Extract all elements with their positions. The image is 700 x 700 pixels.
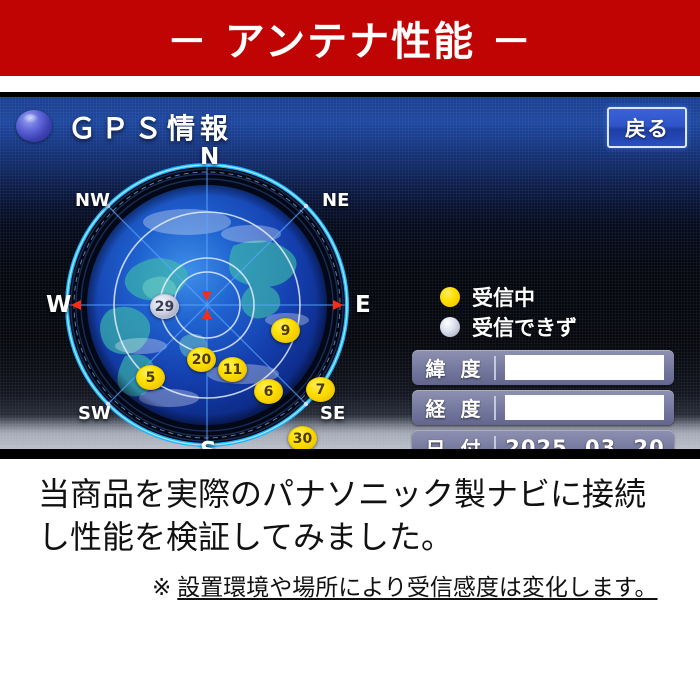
- gps-info-panel: 緯 度 経 度 日 付 2025. 03. 20 時 間 20:08: [412, 350, 674, 449]
- satellite-marker-11: 11: [218, 357, 247, 382]
- info-row-longitude: 経 度: [412, 390, 674, 425]
- satellite-marker-30: 30: [288, 426, 317, 449]
- compass-label-e: E: [355, 292, 371, 318]
- satellite-sky-plot: N NE E SE S SW W NW 2992011567301319: [37, 160, 377, 449]
- info-value-latitude-redacted: [505, 355, 664, 380]
- gps-orb-icon: [16, 110, 52, 142]
- info-label-longitude: 経 度: [412, 393, 494, 422]
- description-text: 当商品を実際のパナソニック製ナビに接続し性能を検証してみました。: [38, 473, 668, 559]
- info-value-date: 2025. 03. 20: [496, 436, 674, 450]
- compass-label-s: S: [200, 438, 217, 449]
- compass-label-w: W: [46, 292, 71, 318]
- back-button[interactable]: 戻る: [607, 107, 687, 148]
- info-value-longitude-redacted: [505, 395, 664, 420]
- signal-legend: 受信中 受信できず: [440, 283, 577, 343]
- navigation-screen-photo: ＧＰＳ情報 戻る: [0, 92, 700, 459]
- info-row-divider: [494, 356, 496, 380]
- satellite-marker-7: 7: [306, 377, 335, 402]
- satellite-marker-5: 5: [136, 365, 165, 390]
- satellite-marker-9: 9: [271, 318, 300, 343]
- satellite-marker-20: 20: [187, 347, 216, 372]
- screen-title-bar: ＧＰＳ情報 戻る: [0, 97, 700, 153]
- screen-title: ＧＰＳ情報: [68, 107, 233, 147]
- legend-label-receiving: 受信中: [472, 282, 535, 312]
- legend-item-receiving: 受信中: [440, 283, 577, 310]
- info-label-latitude: 緯 度: [412, 353, 494, 382]
- satellite-marker-6: 6: [254, 379, 283, 404]
- header-banner: － アンテナ性能 －: [0, 0, 700, 76]
- satellite-marker-29: 29: [150, 294, 179, 319]
- legend-dot-receiving-icon: [440, 287, 460, 307]
- back-button-label: 戻る: [625, 113, 669, 143]
- footnote: ※ 設置環境や場所により受信感度は変化します。: [152, 572, 692, 604]
- compass-label-ne: NE: [322, 190, 349, 211]
- info-row-date: 日 付 2025. 03. 20: [412, 430, 674, 449]
- compass-label-nw: NW: [75, 190, 110, 211]
- footnote-text: 設置環境や場所により受信感度は変化します。: [177, 572, 692, 604]
- info-row-divider: [494, 396, 496, 420]
- info-row-latitude: 緯 度: [412, 350, 674, 385]
- footnote-mark: ※: [152, 572, 171, 604]
- compass-label-sw: SW: [78, 403, 111, 424]
- legend-dot-not-receiving-icon: [440, 317, 460, 337]
- gps-info-screen: ＧＰＳ情報 戻る: [0, 97, 700, 449]
- legend-item-not-receiving: 受信できず: [440, 313, 577, 340]
- legend-label-not-receiving: 受信できず: [472, 312, 577, 342]
- info-label-date: 日 付: [412, 433, 494, 449]
- compass-label-se: SE: [320, 403, 345, 424]
- page-title: － アンテナ性能 －: [167, 9, 533, 67]
